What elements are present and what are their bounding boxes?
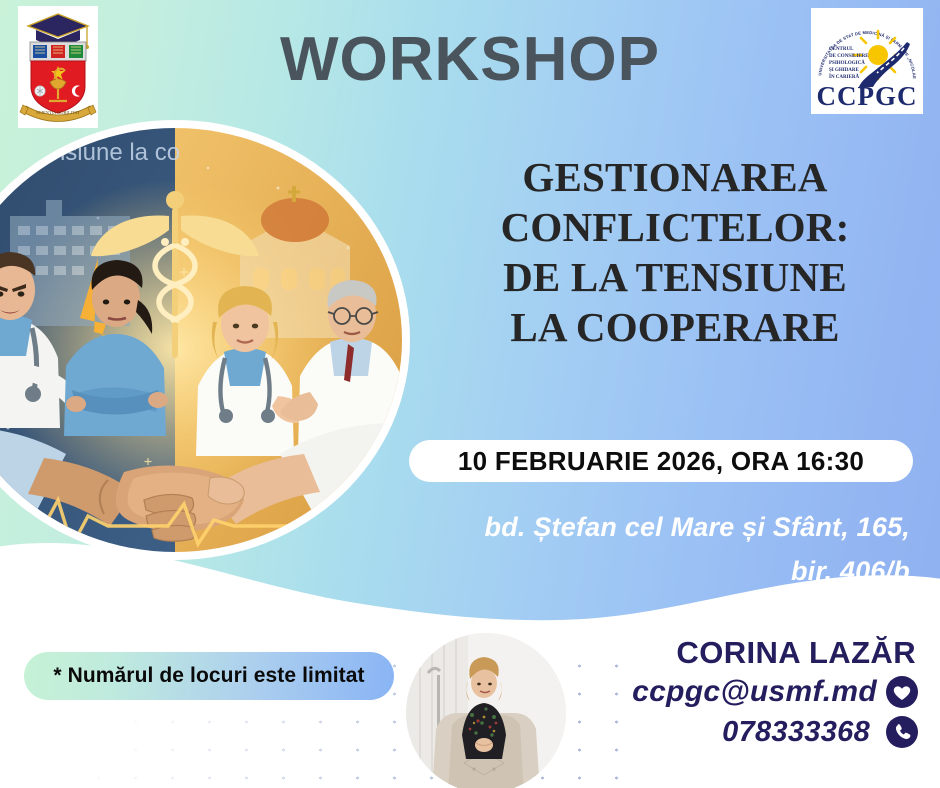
presenter-name: CORINA LAZĂR (518, 636, 918, 671)
title-line-2: CONFLICTELOR: (430, 202, 920, 252)
contact-email-text[interactable]: ccpgc@usmf.md (632, 675, 877, 709)
contact-email-row[interactable]: ccpgc@usmf.md (518, 675, 918, 709)
event-date-text: 10 FEBRUARIE 2026, ORA 16:30 (458, 446, 864, 477)
workshop-poster: SCIENTIA NOBILITAT UNIVERSITATEA DE STAT… (0, 0, 940, 788)
phone-icon (886, 716, 918, 748)
limited-seats-text: * Numărul de locuri este limitat (53, 664, 364, 688)
contact-phone-row[interactable]: 078333368 (518, 716, 918, 749)
heart-icon (886, 676, 918, 708)
svg-text:SCIENTIA NOBILITAT: SCIENTIA NOBILITAT (36, 110, 80, 115)
title-line-1: GESTIONAREA (430, 152, 920, 202)
address-line-2: bir. 406/b (380, 550, 910, 594)
event-date-badge: 10 FEBRUARIE 2026, ORA 16:30 (409, 440, 913, 482)
contact-phone-text[interactable]: 078333368 (722, 716, 870, 749)
title-line-3: DE LA TENSIUNE (430, 252, 920, 302)
conflict-cooperation-illustration: tensiune la co (0, 128, 402, 552)
event-address: bd. Ștefan cel Mare și Sfânt, 165, bir. … (380, 506, 910, 593)
contact-block: CORINA LAZĂR ccpgc@usmf.md 078333368 (518, 636, 918, 749)
page-title: WORKSHOP (0, 24, 940, 95)
workshop-title: GESTIONAREA CONFLICTELOR: DE LA TENSIUNE… (430, 152, 920, 352)
title-line-4: LA COOPERARE (430, 302, 920, 352)
address-line-1: bd. Ștefan cel Mare și Sfânt, 165, (380, 506, 910, 550)
limited-seats-badge: * Numărul de locuri este limitat (24, 652, 394, 700)
